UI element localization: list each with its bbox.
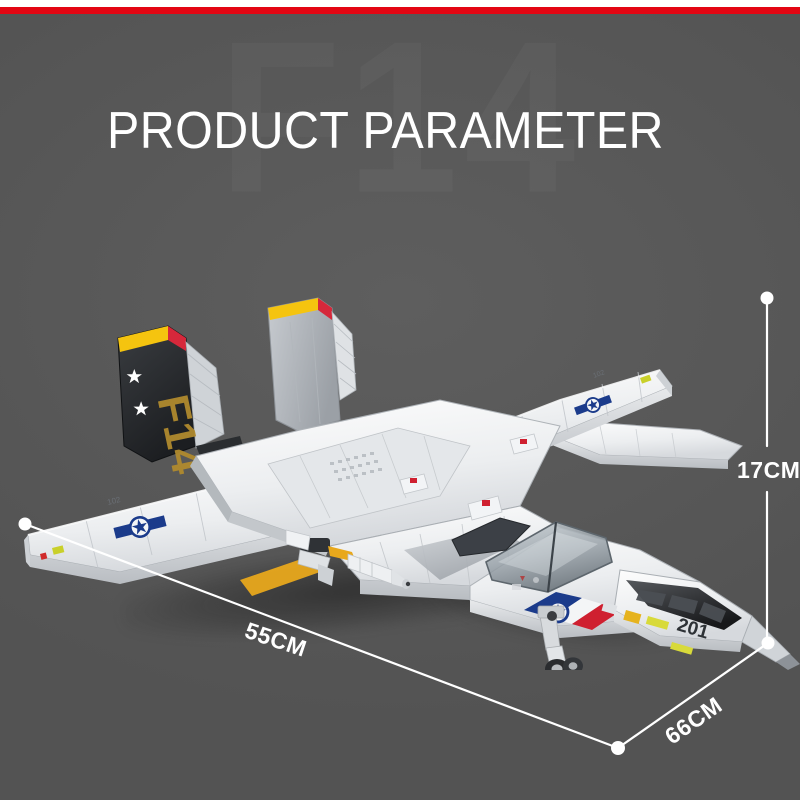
width-dimension-line: [25, 524, 618, 748]
product-parameter-page: F14 PRODUCT PARAMETER: [0, 0, 800, 800]
height-dimension-label: 17CM: [737, 457, 800, 484]
width-dimension-endpoint-left: [19, 518, 32, 531]
height-dimension-endpoint-top: [761, 292, 774, 305]
dimension-overlay: [0, 0, 800, 800]
